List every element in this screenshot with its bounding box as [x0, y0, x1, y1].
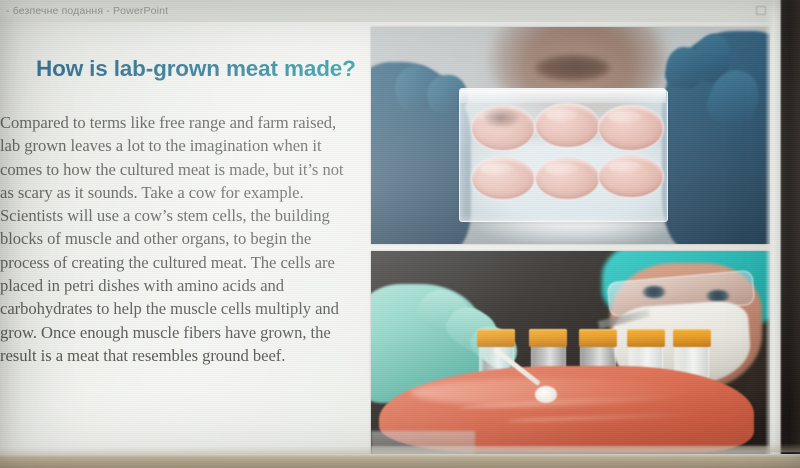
culture-plate-lid-edge — [459, 88, 666, 103]
window-title-text: - безпечне подання - PowerPoint — [6, 5, 168, 17]
window-restore-button[interactable] — [750, 3, 766, 17]
meat-sampling-photo-content — [371, 251, 770, 456]
culture-well — [471, 157, 535, 200]
monitor-bezel-right — [774, 0, 800, 468]
screen-right-margin — [765, 0, 774, 468]
meat-sampling-photo[interactable] — [371, 251, 770, 456]
cotton-swab-tip — [535, 386, 557, 402]
monitor-photo-screenshot: - безпечне подання - PowerPoint How is l… — [0, 0, 800, 468]
desk-surface — [0, 454, 800, 468]
window-titlebar[interactable]: - безпечне подання - PowerPoint — [0, 0, 774, 22]
petri-plate-photo[interactable] — [371, 27, 770, 244]
culture-well — [598, 105, 664, 150]
slide-title[interactable]: How is lab-grown meat made? — [36, 56, 366, 82]
slide-body-text[interactable]: Compared to terms like free range and fa… — [0, 111, 360, 367]
petri-plate-photo-content — [371, 27, 770, 244]
well-shadow — [483, 109, 519, 126]
